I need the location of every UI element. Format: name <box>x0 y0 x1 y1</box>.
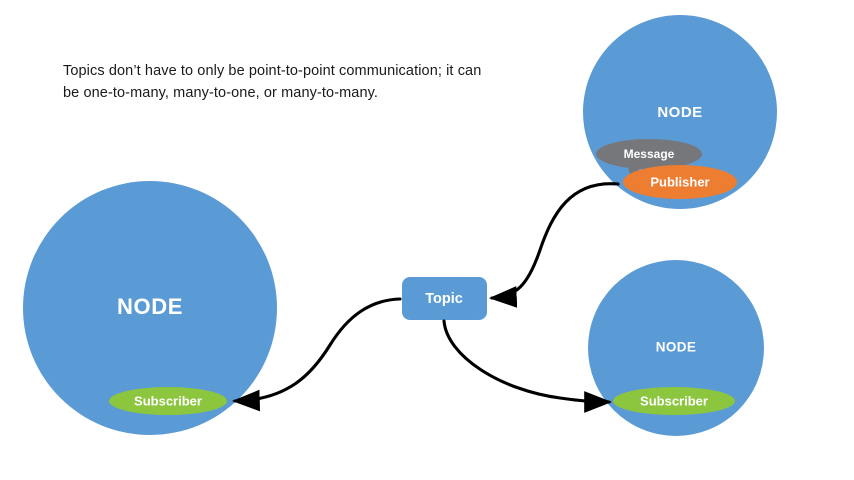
message-label: Message <box>624 147 675 161</box>
node-label-left: NODE <box>117 294 183 319</box>
publisher-label: Publisher <box>650 174 709 189</box>
node-label-bottom-right: NODE <box>656 340 697 355</box>
node-label-top-right: NODE <box>657 104 702 121</box>
subscriber-label-bottom-right: Subscriber <box>640 393 708 408</box>
arrow-publisher-to-topic <box>492 184 618 298</box>
caption-text: Topics don’t have to only be point-to-po… <box>63 60 483 104</box>
diagram-slide: NODE NODE NODE Message Publisher Subscri… <box>0 0 854 480</box>
topic-label: Topic <box>425 291 463 307</box>
arrow-topic-to-subscriber-bottom-right <box>444 321 609 402</box>
subscriber-label-left: Subscriber <box>134 393 202 408</box>
